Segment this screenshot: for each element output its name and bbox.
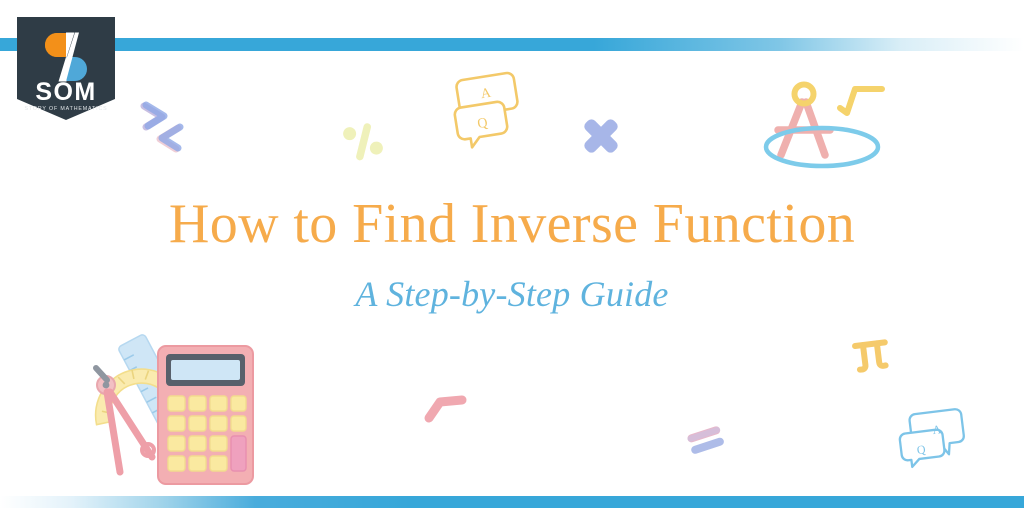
bottom-accent-rule (0, 496, 1024, 508)
logo-tagline: STORY OF MATHEMATICS (24, 106, 107, 112)
svg-text:A: A (480, 86, 493, 103)
square-root-icon (840, 89, 882, 113)
hero-banner: SOM STORY OF MATHEMATICS A (0, 0, 1024, 532)
greater-less-than-icon (136, 100, 196, 158)
calculator-icon (158, 346, 253, 484)
page-subtitle: A Step-by-Step Guide (0, 273, 1024, 315)
top-accent-rule (0, 38, 1024, 51)
compass-hinge (795, 85, 814, 104)
logo-wordmark: SOM (35, 78, 96, 106)
som-logo[interactable]: SOM STORY OF MATHEMATICS (17, 17, 115, 120)
percent-icon (341, 118, 391, 166)
multiply-cross-icon (580, 115, 622, 157)
math-tools-illustration (76, 322, 266, 492)
equals-bars-icon (686, 424, 726, 458)
compass-circle-icon (762, 75, 892, 175)
angle-stroke-icon (424, 392, 468, 426)
qa-speech-bubbles-blue-icon: A Q (898, 408, 970, 470)
qa-speech-bubbles-icon: A Q (455, 70, 525, 145)
page-title: How to Find Inverse Function (0, 192, 1024, 256)
pi-icon (850, 332, 894, 374)
svg-text:A: A (932, 422, 943, 437)
